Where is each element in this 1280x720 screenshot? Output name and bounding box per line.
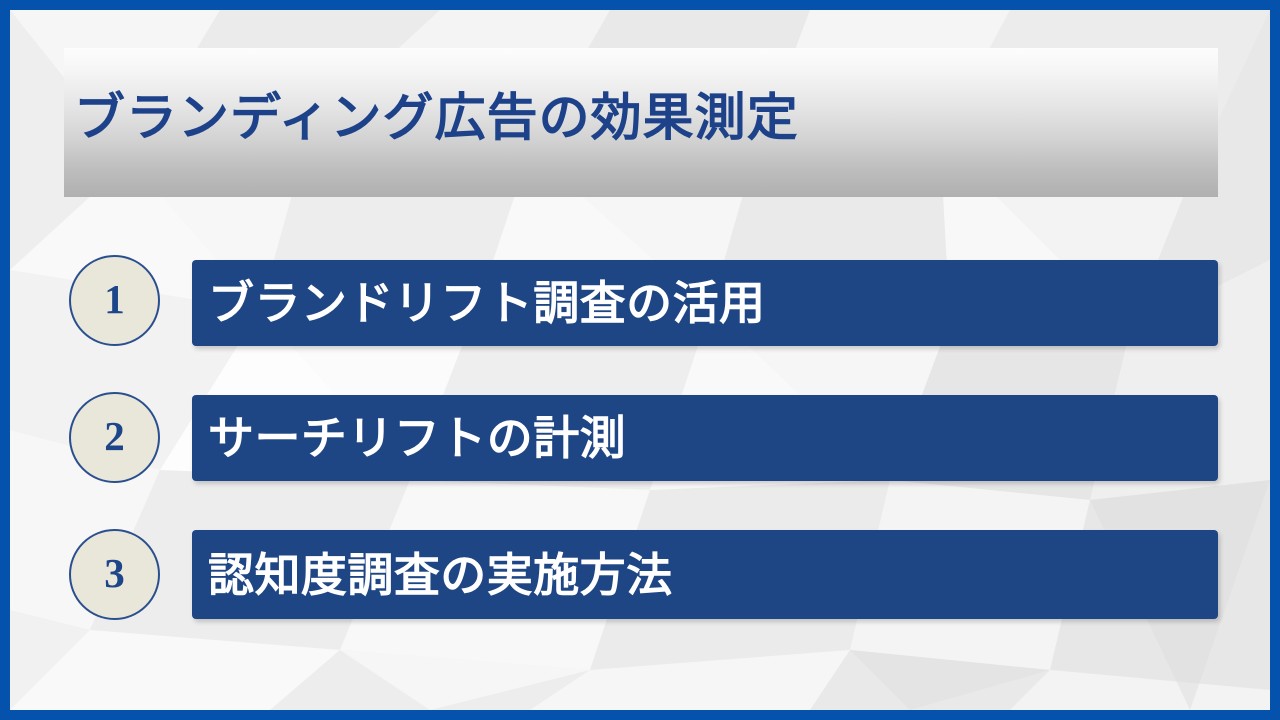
item-label: ブランドリフト調査の活用 [192,280,766,326]
item-number-badge: 1 [69,255,160,346]
item-label: 認知度調査の実施方法 [192,552,673,598]
item-number-label: 3 [104,553,125,596]
item-number-label: 1 [104,279,125,322]
item-number-badge: 2 [69,392,160,483]
item-bar[interactable]: 認知度調査の実施方法 [192,530,1218,619]
item-label: サーチリフトの計測 [192,415,626,461]
slide-root: ブランディング広告の効果測定 1 ブランドリフト調査の活用 2 サーチリフトの計… [0,0,1280,720]
page-title: ブランディング広告の効果測定 [74,92,799,143]
item-bar[interactable]: サーチリフトの計測 [192,395,1218,481]
item-number-badge: 3 [69,529,160,620]
item-number-label: 2 [104,416,125,459]
item-bar[interactable]: ブランドリフト調査の活用 [192,260,1218,346]
